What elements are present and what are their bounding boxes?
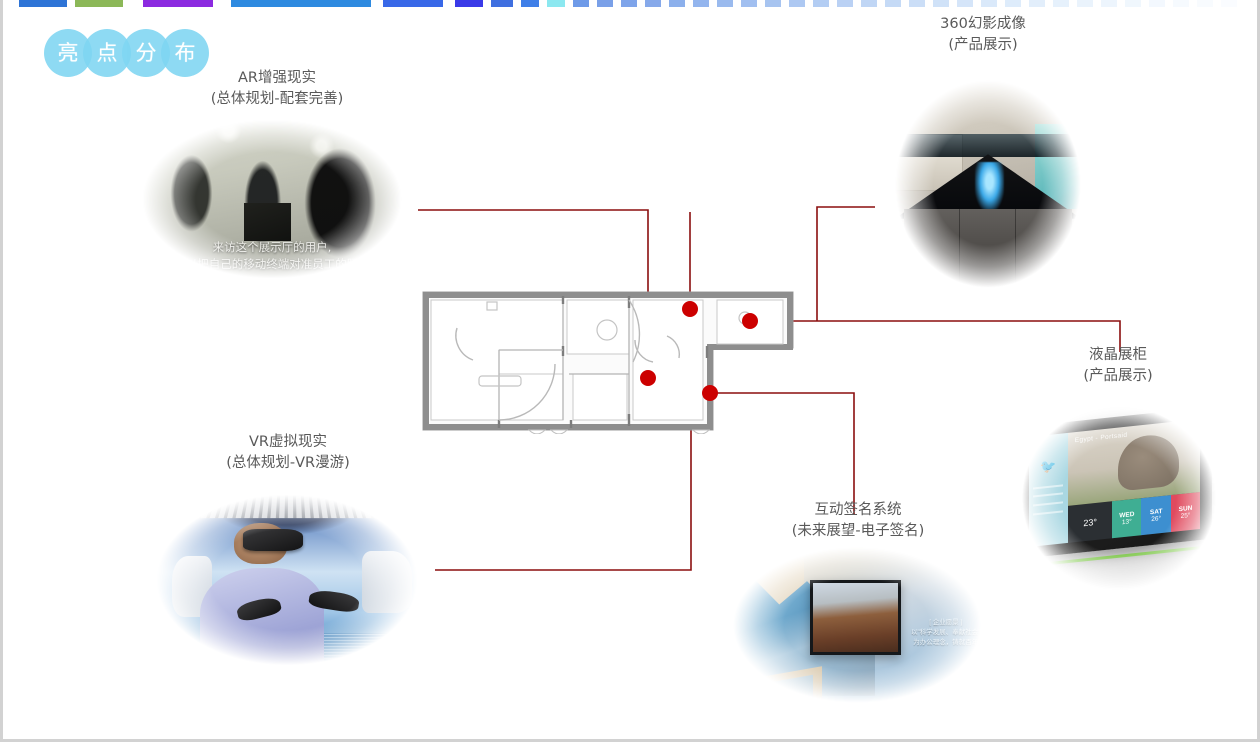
title-char-3: 分	[136, 43, 157, 64]
title-char-2: 点	[97, 43, 118, 64]
strip-segment-32	[1125, 0, 1141, 7]
hologram-glass-band	[886, 134, 1090, 156]
strip-segment-10	[597, 0, 613, 7]
title-char-1: 亮	[58, 43, 79, 64]
top-decorative-strip	[3, 0, 1260, 7]
strip-segment-7	[521, 0, 539, 7]
strip-segment-21	[861, 0, 877, 7]
callout-label-lcd: 液晶展柜 (产品展示)	[1043, 345, 1193, 386]
strip-segment-12	[645, 0, 661, 7]
callout-label-vr: VR虚拟现实 (总体规划-VR漫游)	[193, 432, 383, 473]
lcd-frame: 🐦 Egypt - Portsaid 23° WED	[1017, 406, 1212, 558]
vr-headset	[243, 529, 302, 551]
photo-360-image	[877, 60, 1099, 308]
sig-wall-line1: 以"科学发展、奉献社会"	[911, 629, 981, 636]
ar-subtitle-line1: 来访这个展示厅的用户,	[213, 240, 332, 254]
callout-360-line2: (产品展示)	[887, 35, 1079, 56]
strip-segment-15	[717, 0, 733, 7]
hologram-cabinet-base	[904, 209, 1073, 293]
callout-label-360: 360幻影成像 (产品展示)	[887, 14, 1079, 55]
title-char-4: 布	[175, 43, 196, 64]
callout-lcd-line1: 液晶展柜	[1043, 345, 1193, 366]
lcd-forecast-0: WED 13°	[1112, 497, 1141, 538]
strip-segment-27	[1005, 0, 1021, 7]
strip-segment-25	[957, 0, 973, 7]
lcd-hero-image: Egypt - Portsaid	[1068, 418, 1200, 505]
lcd-current-temp: 23°	[1068, 501, 1112, 543]
photo-lcd-image: 🐦 Egypt - Portsaid 23° WED	[1003, 388, 1235, 608]
vr-ceiling-grid	[192, 482, 389, 518]
strip-segment-24	[933, 0, 949, 7]
photo-sig-image: [ 企业愿景 ] 以"科学发展、奉献社会" 为办公理念，铸就百年	[709, 532, 1005, 718]
callout-lcd-line2: (产品展示)	[1043, 366, 1193, 387]
ar-subtitle: 来访这个展示厅的用户, 可以把自己的移动终端对准员工的照片	[117, 239, 427, 274]
strip-segment-8	[547, 0, 565, 7]
callout-sig-line1: 互动签名系统	[763, 500, 953, 521]
photo-vr-virtual-reality	[131, 478, 443, 682]
strip-segment-9	[573, 0, 589, 7]
strip-segment-26	[981, 0, 997, 7]
photo-lcd-showcase: 🐦 Egypt - Portsaid 23° WED	[1003, 388, 1235, 608]
strip-segment-31	[1101, 0, 1117, 7]
callout-360-line1: 360幻影成像	[887, 14, 1079, 35]
lcd-forecast-0-temp: 13°	[1122, 517, 1132, 525]
strip-segment-14	[693, 0, 709, 7]
strip-segment-6	[491, 0, 513, 7]
sig-wall-title: [ 企业愿景 ]	[929, 619, 962, 626]
lcd-caption: Egypt - Portsaid	[1075, 431, 1128, 444]
lcd-screen: 🐦 Egypt - Portsaid 23° WED	[1029, 418, 1200, 547]
lcd-forecast-1: SAT 26°	[1141, 494, 1170, 535]
photo-ar-augmented-reality: 来访这个展示厅的用户, 可以把自己的移动终端对准员工的照片	[117, 104, 427, 294]
strip-segment-34	[1173, 0, 1189, 7]
lcd-twitter-panel: 🐦	[1029, 432, 1068, 547]
strip-segment-4	[383, 0, 443, 7]
callout-vr-line1: VR虚拟现实	[193, 432, 383, 453]
strip-segment-23	[909, 0, 925, 7]
strip-segment-20	[837, 0, 853, 7]
vr-user-body	[200, 568, 325, 682]
strip-segment-22	[885, 0, 901, 7]
lcd-forecast-1-temp: 26°	[1151, 514, 1161, 522]
floor-plan	[421, 288, 799, 434]
strip-segment-35	[1197, 0, 1213, 7]
sphinx-shape	[1118, 432, 1179, 491]
strip-segment-33	[1149, 0, 1165, 7]
photo-signature-system: [ 企业愿景 ] 以"科学发展、奉献社会" 为办公理念，铸就百年	[709, 532, 1005, 718]
lcd-main-panel: Egypt - Portsaid 23° WED 13° SAT 26°	[1068, 418, 1200, 543]
lcd-forecast-2-temp: 25°	[1180, 511, 1190, 519]
strip-segment-28	[1029, 0, 1045, 7]
strip-segment-36	[1221, 0, 1237, 7]
photo-ar-image: 来访这个展示厅的用户, 可以把自己的移动终端对准员工的照片	[117, 104, 427, 294]
sig-wall-line2: 为办公理念，铸就百年	[913, 639, 978, 646]
strip-segment-5	[455, 0, 483, 7]
strip-segment-1	[75, 0, 123, 7]
strip-segment-13	[669, 0, 685, 7]
photo-vr-image	[131, 478, 443, 682]
photo-360-hologram	[877, 60, 1099, 308]
connector-360	[817, 207, 875, 321]
twitter-bird-icon: 🐦	[1040, 458, 1056, 476]
strip-segment-29	[1053, 0, 1069, 7]
sig-vision-text: [ 企业愿景 ] 以"科学发展、奉献社会" 为办公理念，铸就百年	[901, 618, 990, 649]
callout-ar-line1: AR增强现实	[181, 68, 373, 89]
hologram-blue-object	[975, 162, 1004, 212]
strip-segment-11	[621, 0, 637, 7]
callout-vr-line2: (总体规划-VR漫游)	[193, 453, 383, 474]
ar-standee-board	[244, 203, 291, 241]
strip-segment-2	[143, 0, 213, 7]
slide-canvas: 亮 点 分 布	[0, 0, 1260, 742]
strip-segment-17	[765, 0, 781, 7]
lcd-forecast-2: SUN 25°	[1171, 491, 1200, 532]
strip-segment-30	[1077, 0, 1093, 7]
sig-framed-screen	[810, 580, 902, 654]
strip-segment-18	[789, 0, 805, 7]
strip-segment-0	[19, 0, 67, 7]
vr-chair-right	[362, 551, 412, 612]
ar-subtitle-line2: 可以把自己的移动终端对准员工的照片	[174, 257, 370, 271]
strip-segment-16	[741, 0, 757, 7]
strip-segment-3	[231, 0, 371, 7]
strip-segment-19	[813, 0, 829, 7]
callout-label-ar: AR增强现实 (总体规划-配套完善)	[181, 68, 373, 109]
